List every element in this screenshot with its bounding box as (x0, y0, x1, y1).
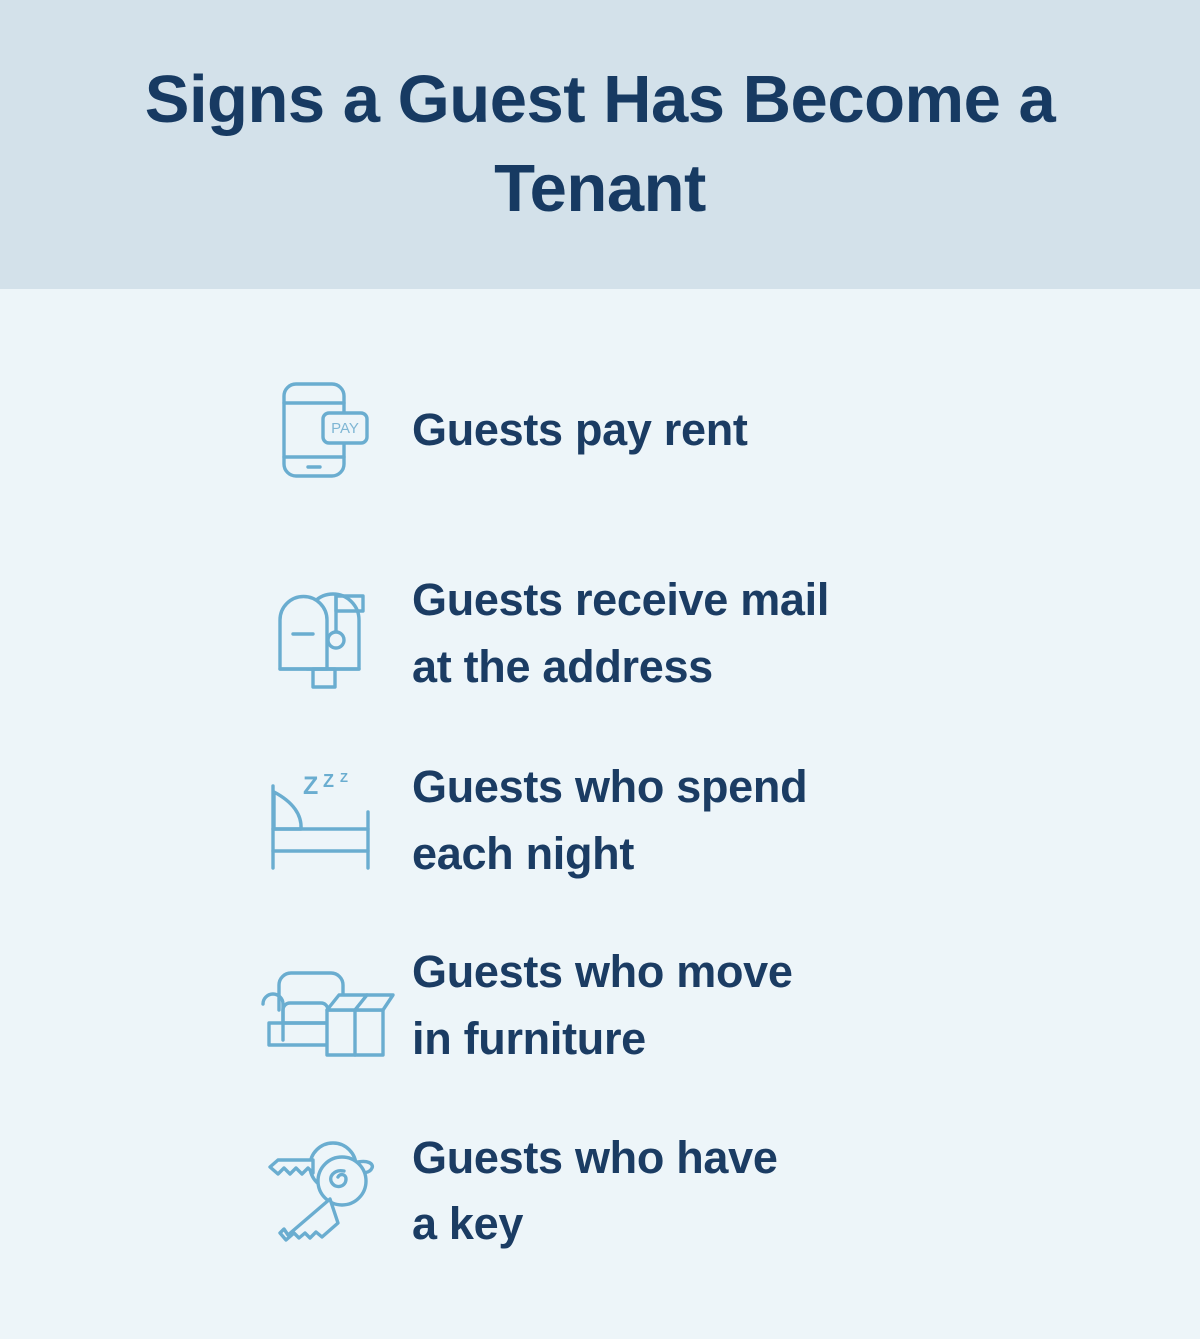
list-item: Guests who have a key (0, 1125, 1200, 1258)
list-item-label: Guests receive mail at the address (388, 567, 829, 700)
list-item: Guests who move in furniture (0, 939, 1200, 1072)
svg-text:Z: Z (303, 772, 318, 800)
phone-pay-icon: PAY (258, 371, 388, 489)
list-item: Guests receive mail at the address (0, 567, 1200, 700)
couch-moving-box-icon (258, 947, 388, 1065)
infographic-root: Signs a Guest Has Become a Tenant PAY (0, 0, 1200, 1339)
list-item-label: Guests who move in furniture (388, 939, 793, 1072)
list-item-label: Guests who have a key (388, 1125, 778, 1258)
svg-text:Z: Z (323, 771, 334, 791)
bed-sleep-icon: Z Z Z (258, 762, 388, 880)
list-item-label: Guests who spend each night (388, 754, 807, 887)
svg-text:Z: Z (340, 770, 348, 785)
signs-list: PAY Guests pay rent (0, 289, 1200, 1339)
header-band: Signs a Guest Has Become a Tenant (0, 0, 1200, 289)
pay-card-label: PAY (331, 420, 359, 437)
list-item: PAY Guests pay rent (0, 371, 1200, 489)
mailbox-icon (258, 575, 388, 693)
keys-icon (258, 1132, 388, 1250)
list-item-label: Guests pay rent (388, 397, 748, 464)
page-title: Signs a Guest Has Become a Tenant (90, 56, 1110, 233)
list-item: Z Z Z Guests who spend each night (0, 754, 1200, 887)
